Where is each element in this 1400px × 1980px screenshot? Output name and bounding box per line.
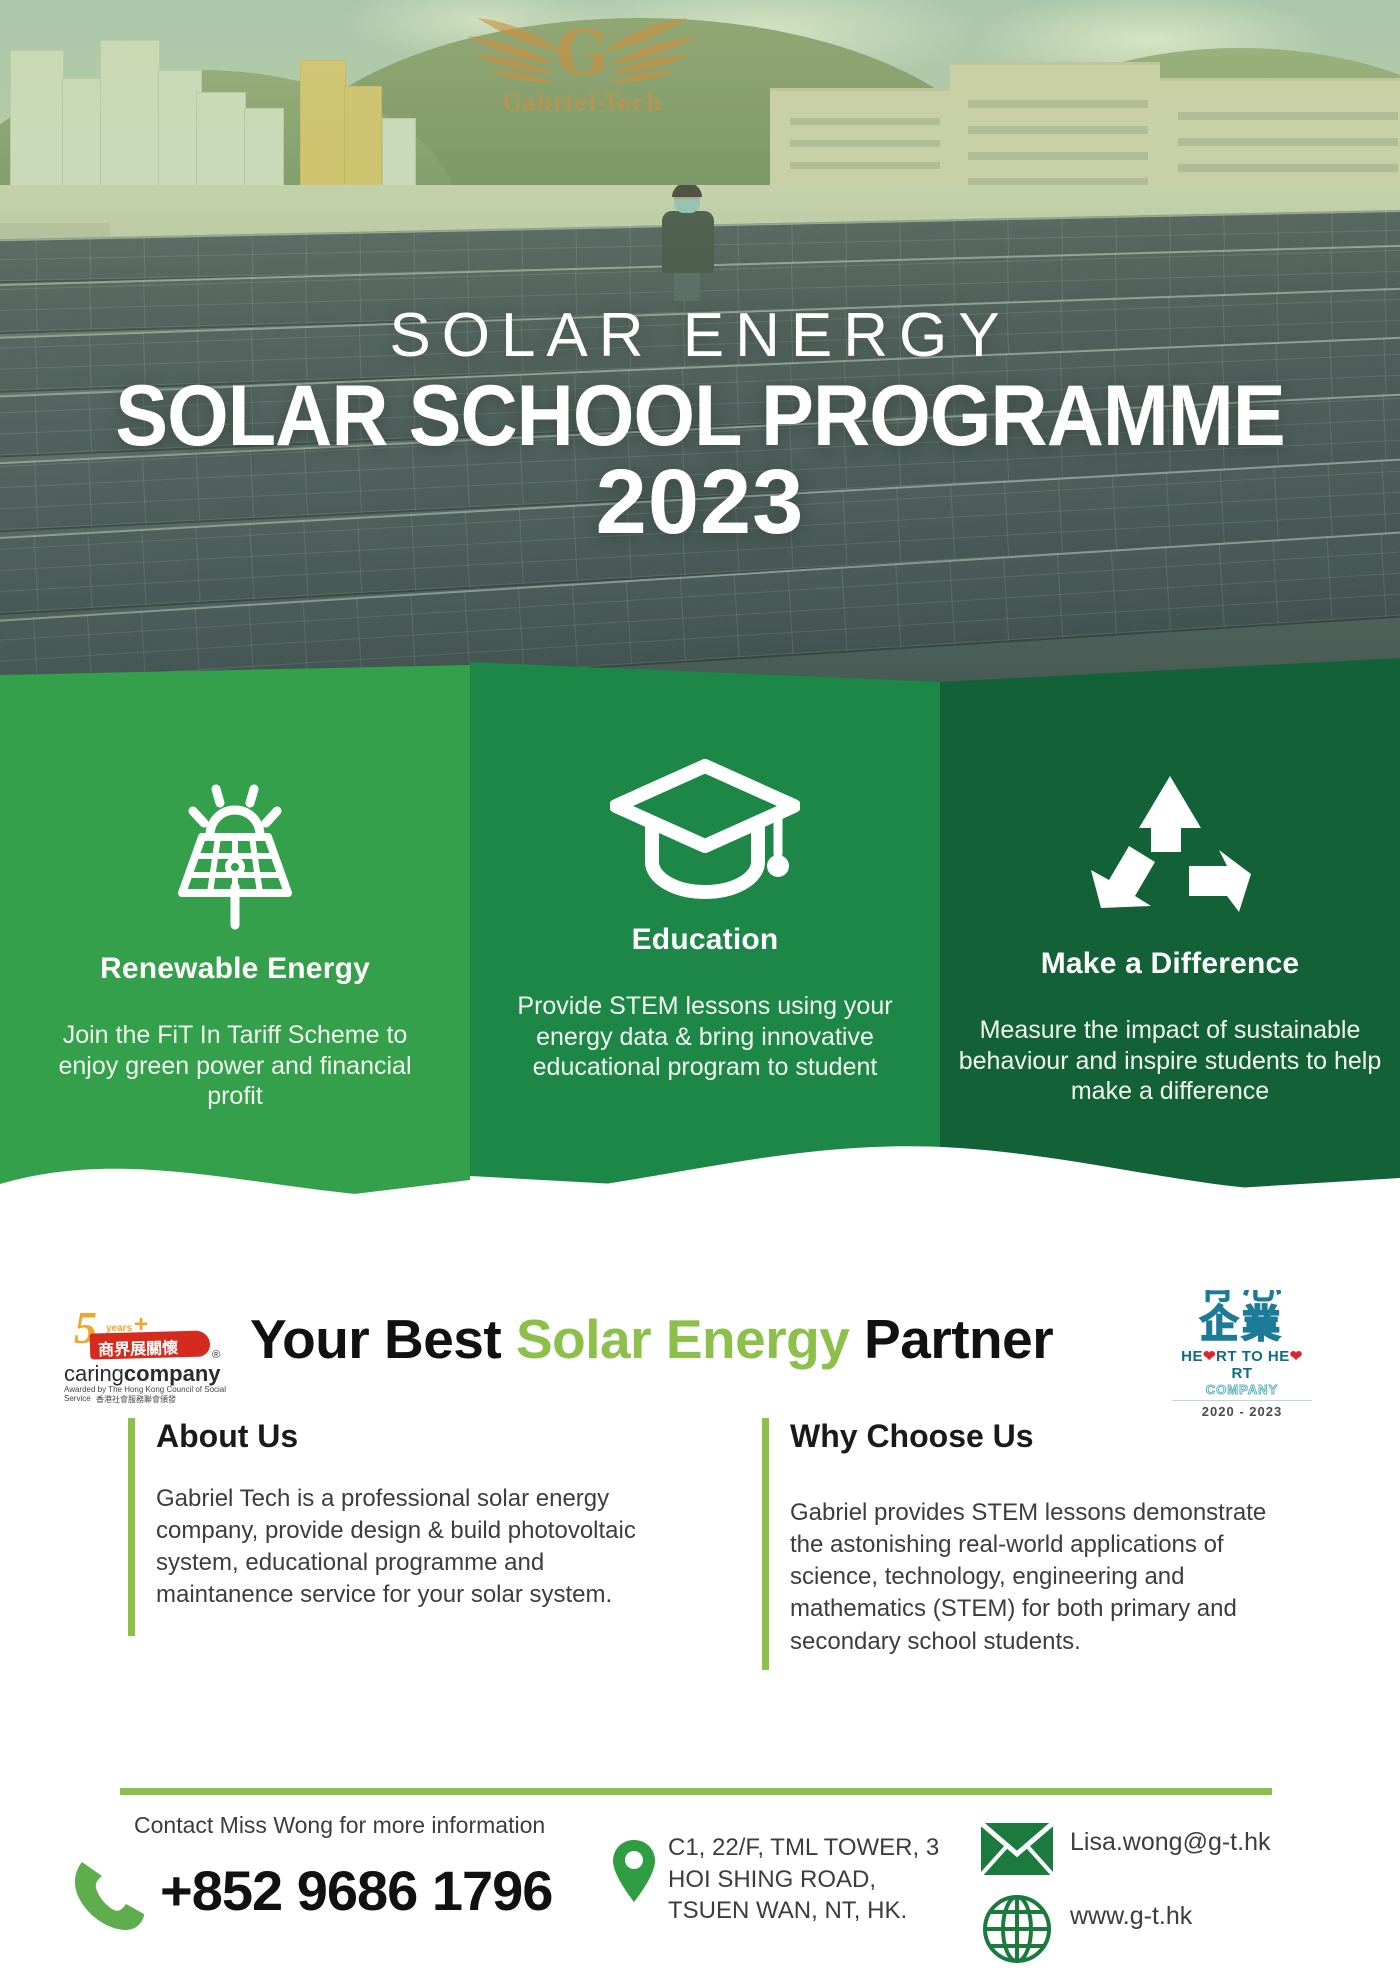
why-choose-us-heading: Why Choose Us <box>790 1418 1282 1455</box>
why-choose-us-section: Why Choose Us Gabriel provides STEM less… <box>762 1418 1282 1658</box>
hero-title-group: SOLAR ENERGY SOLAR SCHOOL PROGRAMME 2023 <box>0 300 1400 548</box>
address-text: C1, 22/F, TML TOWER, 3 HOI SHING ROAD, T… <box>668 1832 940 1927</box>
h2h-chinese-bottom: 企業 <box>1172 1305 1312 1345</box>
map-pin-icon <box>610 1838 658 1909</box>
about-us-section: About Us Gabriel Tech is a professional … <box>128 1418 648 1612</box>
partner-headline: Your Best Solar Energy Partner <box>250 1307 1150 1371</box>
partner-suffix: Partner <box>849 1308 1053 1370</box>
feature-title: Make a Difference <box>940 947 1400 981</box>
caring-awarded-line-zh: 香港社會服務聯會頒發 <box>96 1394 176 1405</box>
why-choose-us-body: Gabriel provides STEM lessons demonstrat… <box>790 1497 1282 1658</box>
globe-icon <box>982 1894 1052 1969</box>
email-address[interactable]: Lisa.wong@g-t.hk <box>1070 1828 1270 1857</box>
heart-icon: ❤ <box>1203 1348 1216 1365</box>
recycle-icon <box>940 770 1400 933</box>
section-accent-bar <box>762 1418 769 1670</box>
caring-registered-mark: ® <box>212 1349 220 1361</box>
envelope-icon <box>980 1822 1054 1881</box>
h2h-years: 2020 - 2023 <box>1172 1400 1312 1419</box>
caring-chinese-banner: 商界展關懷 <box>90 1330 211 1359</box>
caring-company-logo: 5 years + 商界展關懷 ® caringcompany Awarded … <box>62 1303 242 1403</box>
h2h-english-line2: COMPANY <box>1172 1382 1312 1397</box>
graduation-cap-icon <box>470 758 940 913</box>
phone-contact-row[interactable]: +852 9686 1796 <box>70 1848 590 1938</box>
phone-icon <box>70 1856 148 1939</box>
footer-divider <box>120 1788 1272 1795</box>
heart-icon: ❤ <box>1290 1348 1303 1365</box>
feature-title: Education <box>470 923 940 957</box>
feature-title: Renewable Energy <box>0 952 470 986</box>
hero-kicker: SOLAR ENERGY <box>0 300 1400 371</box>
feature-body: Join the FiT In Tariff Scheme to enjoy g… <box>0 1020 470 1112</box>
partner-highlight: Solar Energy <box>516 1308 849 1370</box>
solar-panel-icon <box>0 775 470 940</box>
website-url[interactable]: www.g-t.hk <box>1070 1902 1192 1931</box>
contact-lead-text: Contact Miss Wong for more information <box>134 1812 545 1839</box>
hero-banner: G Gabriel-Tech SOLAR ENERGY SOLAR SCHOOL… <box>0 0 1400 700</box>
about-us-body: Gabriel Tech is a professional solar ene… <box>156 1483 648 1612</box>
about-us-heading: About Us <box>156 1418 648 1455</box>
partner-prefix: Your Best <box>250 1308 516 1370</box>
hero-year: 2023 <box>0 456 1400 548</box>
feature-body: Measure the impact of sustainable behavi… <box>940 1015 1400 1107</box>
hero-title: SOLAR SCHOOL PROGRAMME <box>56 377 1344 456</box>
band-wave-divider <box>0 1110 1400 1290</box>
caring-chinese-text: 商界展關懷 <box>98 1334 179 1360</box>
phone-number[interactable]: +852 9686 1796 <box>160 1858 552 1923</box>
partner-banner: 5 years + 商界展關懷 ® caringcompany Awarded … <box>0 1285 1400 1415</box>
h2h-english-line1: HE❤RT TO HE❤RT <box>1172 1347 1312 1382</box>
feature-body: Provide STEM lessons using your energy d… <box>470 991 940 1083</box>
section-accent-bar <box>128 1418 135 1636</box>
caring-company-wordmark: caringcompany <box>64 1361 221 1387</box>
